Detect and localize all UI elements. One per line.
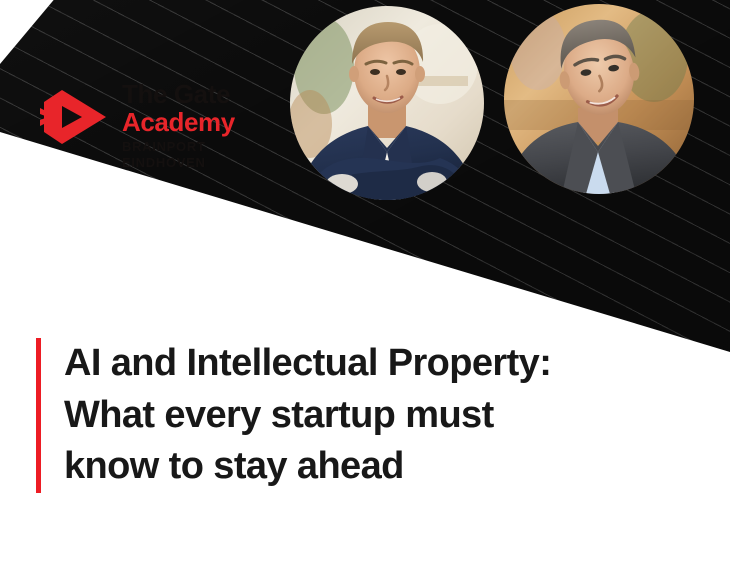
event-banner: The Gate Academy BRAINPORT EINDHOVEN AI … — [0, 0, 730, 565]
logo-line-brainport: BRAINPORT — [122, 139, 235, 155]
logo-line-the-gate: The Gate — [122, 80, 235, 108]
headline-line-2: What every startup must — [64, 390, 551, 442]
page-title: AI and Intellectual Property: What every… — [64, 338, 551, 493]
headline-block: AI and Intellectual Property: What every… — [36, 338, 551, 493]
speaker-portrait-two — [504, 4, 694, 194]
speaker-portrait-one — [290, 6, 484, 200]
logo-line-academy: Academy — [122, 108, 235, 137]
red-accent-rule — [36, 338, 41, 493]
headline-line-3: know to stay ahead — [64, 441, 551, 493]
logo-wordmark: The Gate Academy BRAINPORT EINDHOVEN — [122, 80, 235, 171]
headline-line-1: AI and Intellectual Property: — [64, 338, 551, 390]
double-chevron-arrow-logo-icon — [36, 88, 108, 146]
the-gate-academy-logo: The Gate Academy BRAINPORT EINDHOVEN — [36, 80, 235, 171]
logo-line-eindhoven: EINDHOVEN — [122, 155, 235, 171]
